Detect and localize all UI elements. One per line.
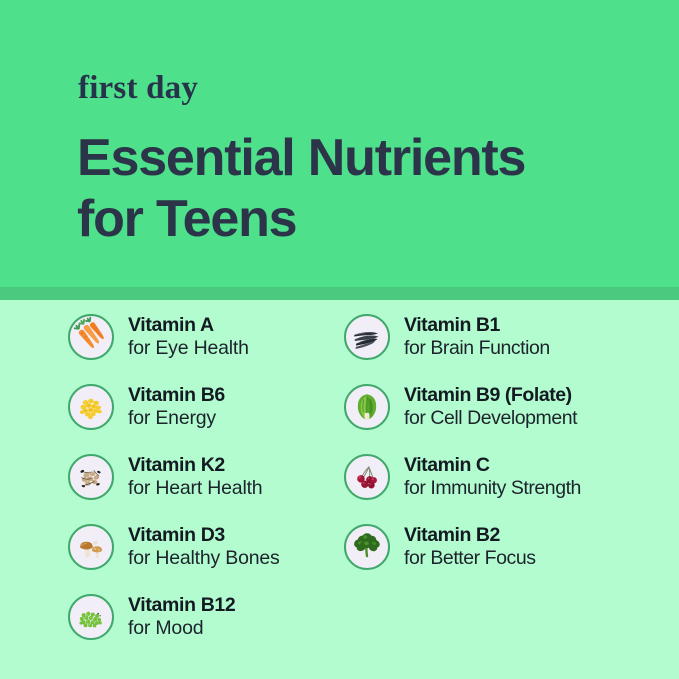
page-title: Essential Nutrients for Teens	[77, 128, 647, 250]
nutrient-row: Vitamin B9 (Folate)for Cell Development	[344, 384, 577, 430]
nutrient-row: Vitamin D3for Healthy Bones	[68, 524, 280, 570]
nutrient-name: Vitamin B6	[128, 384, 225, 407]
nutrient-text-block: Vitamin Afor Eye Health	[128, 314, 249, 360]
green-peas-icon	[68, 594, 114, 640]
nutrient-text-block: Vitamin B2for Better Focus	[404, 524, 536, 570]
nutrient-text-block: Vitamin D3for Healthy Bones	[128, 524, 280, 570]
nutrient-row: Vitamin B1for Brain Function	[344, 314, 550, 360]
nutrient-text-block: Vitamin Cfor Immunity Strength	[404, 454, 581, 500]
nutrient-text-block: Vitamin B1for Brain Function	[404, 314, 550, 360]
nutrient-benefit: for Healthy Bones	[128, 547, 280, 570]
nutrient-row: Vitamin Afor Eye Health	[68, 314, 249, 360]
leafy-greens-icon	[344, 524, 390, 570]
nutrient-name: Vitamin D3	[128, 524, 280, 547]
nutrient-text-block: Vitamin K2for Heart Health	[128, 454, 262, 500]
nutrient-row: Vitamin B6for Energy	[68, 384, 225, 430]
nutrient-text-block: Vitamin B9 (Folate)for Cell Development	[404, 384, 577, 430]
nutrient-text-block: Vitamin B12for Mood	[128, 594, 235, 640]
nutrient-text-block: Vitamin B6for Energy	[128, 384, 225, 430]
nutrient-benefit: for Brain Function	[404, 337, 550, 360]
nutrient-name: Vitamin B9 (Folate)	[404, 384, 577, 407]
nutrient-name: Vitamin A	[128, 314, 249, 337]
nutrient-benefit: for Better Focus	[404, 547, 536, 570]
nutrient-row: Vitamin K2for Heart Health	[68, 454, 262, 500]
nutrient-benefit: for Mood	[128, 617, 235, 640]
natto-beans-icon	[68, 454, 114, 500]
seaweed-strips-icon	[344, 314, 390, 360]
nutrient-benefit: for Cell Development	[404, 407, 577, 430]
nutrient-benefit: for Energy	[128, 407, 225, 430]
nutrient-benefit: for Immunity Strength	[404, 477, 581, 500]
brand-logo: first day	[78, 72, 198, 105]
nutrient-benefit: for Eye Health	[128, 337, 249, 360]
carrots-icon	[68, 314, 114, 360]
nutrient-benefit: for Heart Health	[128, 477, 262, 500]
nutrient-name: Vitamin K2	[128, 454, 262, 477]
lettuce-icon	[344, 384, 390, 430]
nutrient-row: Vitamin Cfor Immunity Strength	[344, 454, 581, 500]
cherries-icon	[344, 454, 390, 500]
nutrient-name: Vitamin B12	[128, 594, 235, 617]
nutrient-name: Vitamin B2	[404, 524, 536, 547]
infographic-canvas: first day Essential Nutrients for Teens …	[0, 0, 679, 679]
mushrooms-icon	[68, 524, 114, 570]
nutrient-row: Vitamin B2for Better Focus	[344, 524, 536, 570]
corn-kernels-icon	[68, 384, 114, 430]
band-divider-stripe	[0, 287, 679, 300]
nutrient-row: Vitamin B12for Mood	[68, 594, 235, 640]
nutrient-name: Vitamin C	[404, 454, 581, 477]
nutrient-name: Vitamin B1	[404, 314, 550, 337]
